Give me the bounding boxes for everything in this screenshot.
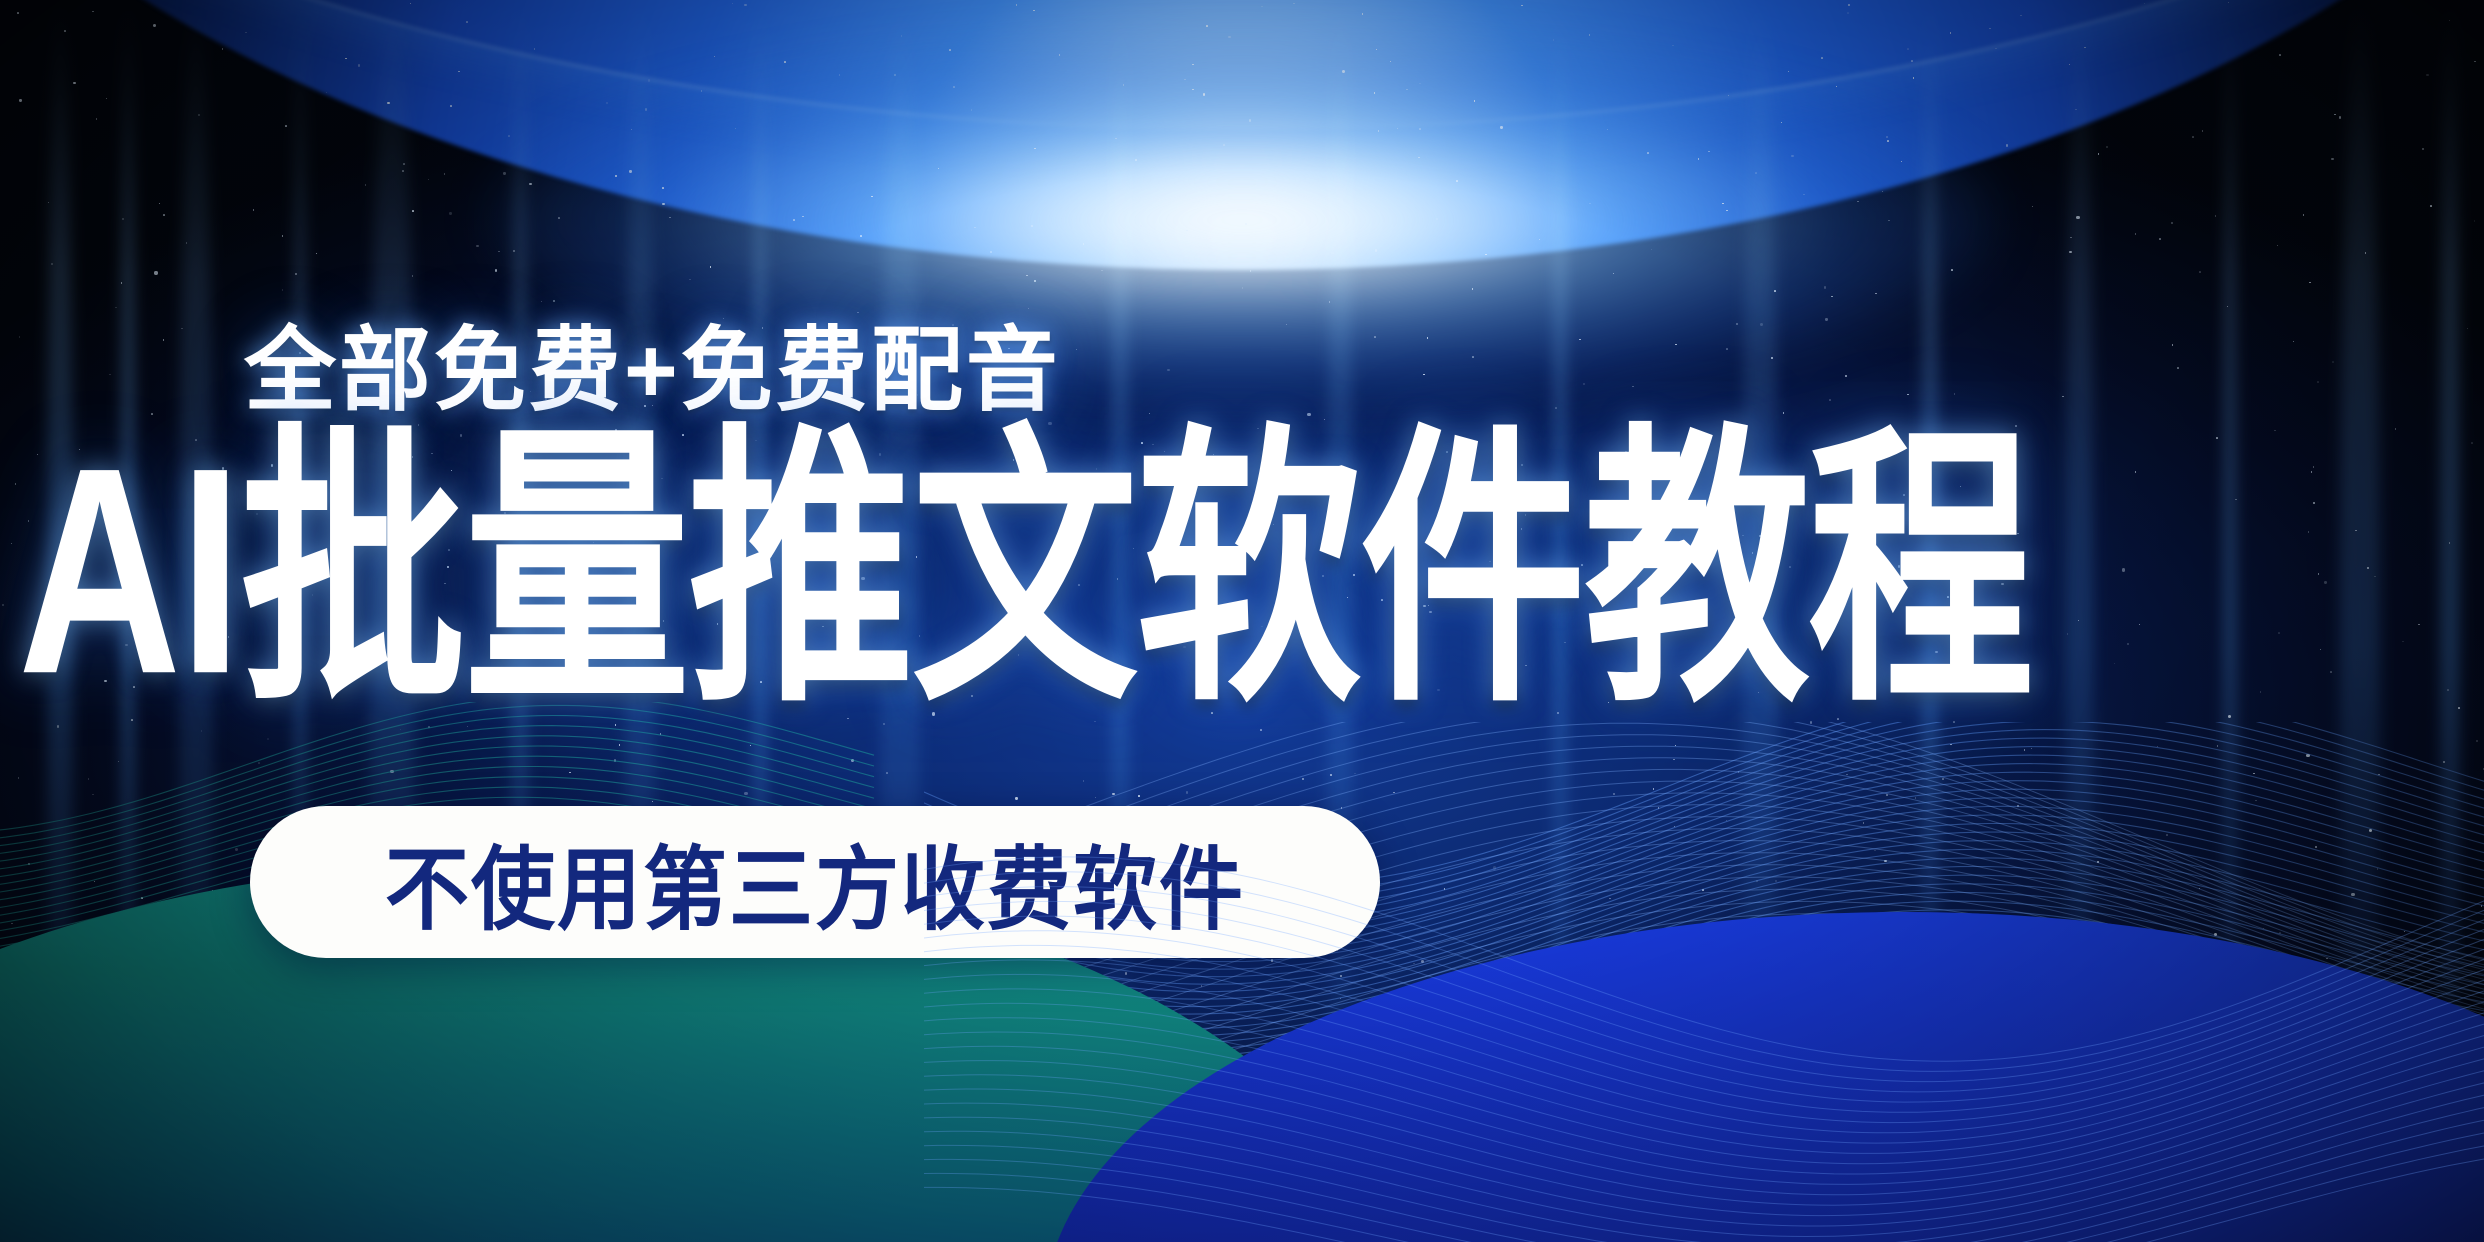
wave-mesh-right-overlay [924,722,2484,1242]
poster-canvas: 全部免费+免费配音 AI批量推文软件教程 不使用第三方收费软件 [0,0,2484,1242]
poster-headline: AI批量推文软件教程 [18,424,2032,718]
